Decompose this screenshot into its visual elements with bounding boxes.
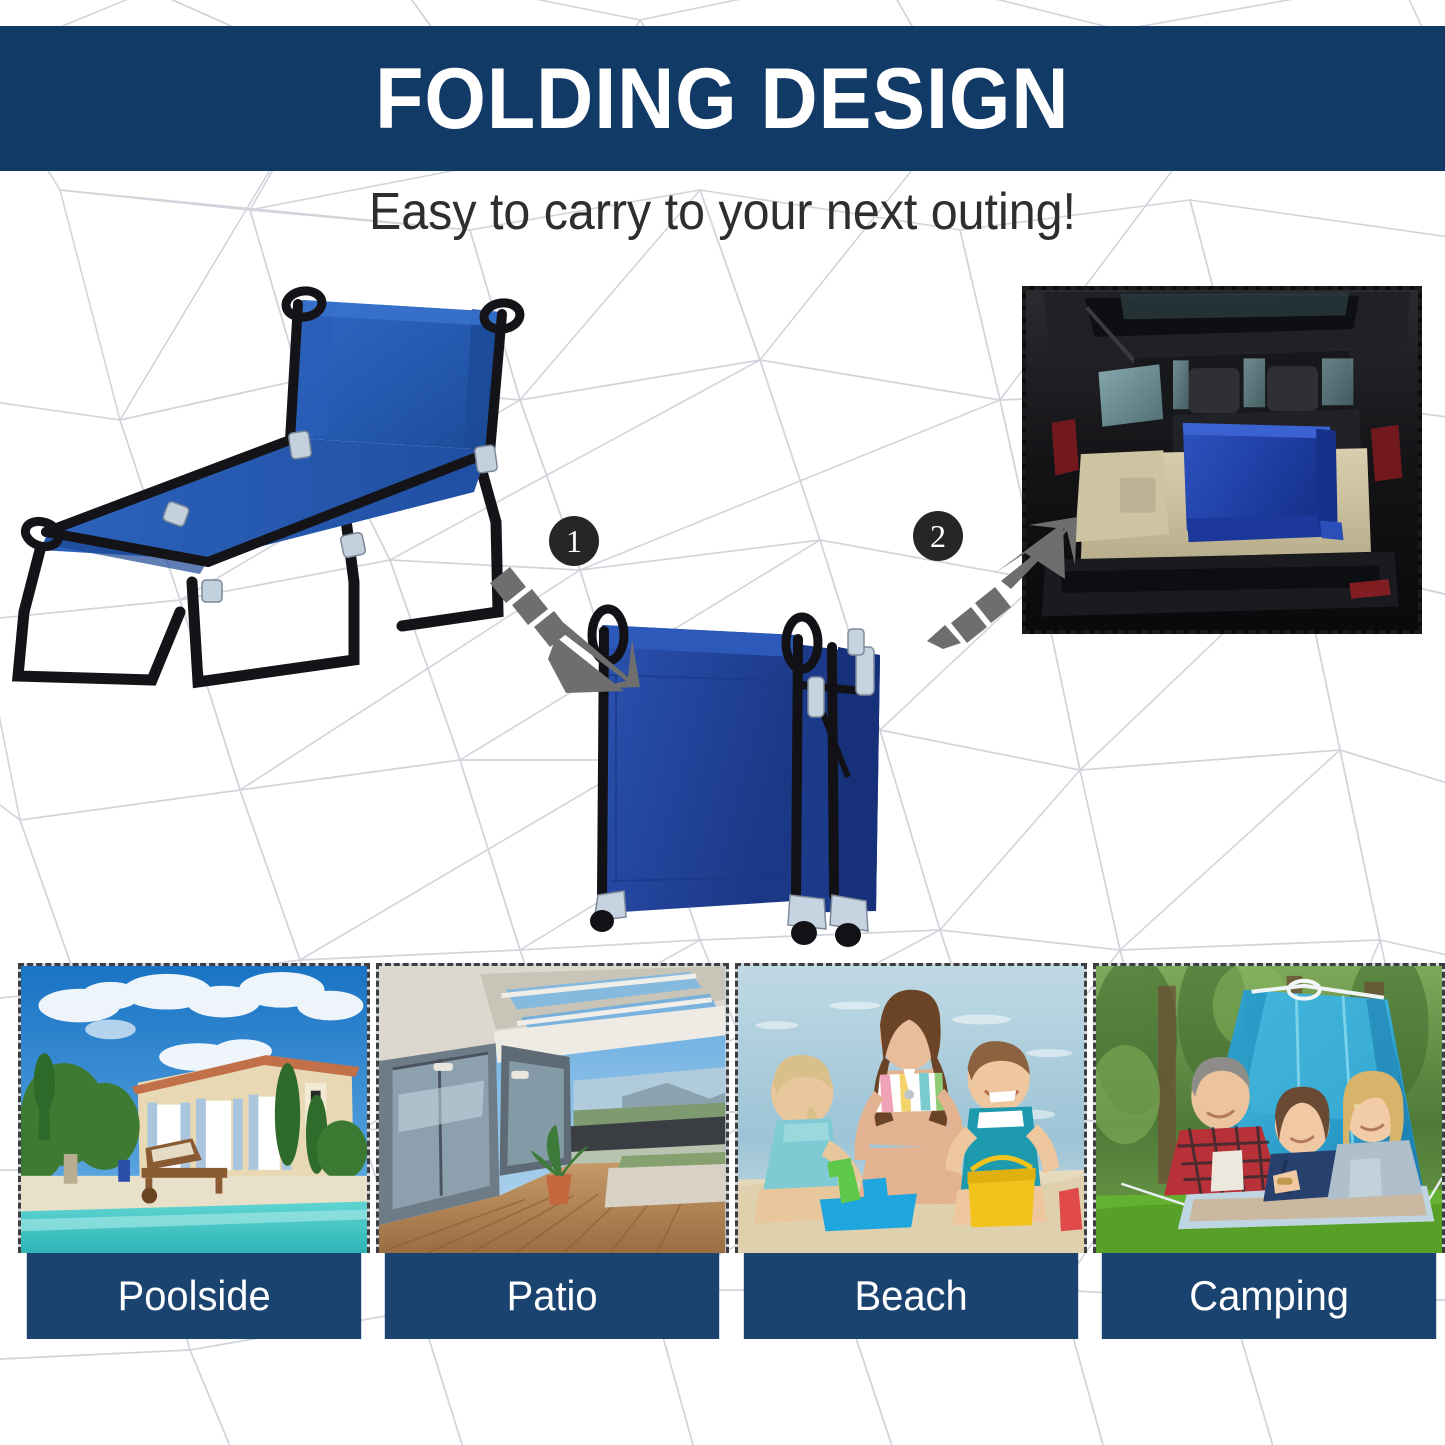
- scene-label-beach: Beach: [743, 1253, 1078, 1339]
- scene-card-poolside[interactable]: Poolside: [18, 963, 370, 1363]
- scene-card-patio[interactable]: Patio: [376, 963, 728, 1363]
- product-image-lounger-open: [2, 282, 542, 692]
- scene-label-camping: Camping: [1102, 1253, 1437, 1339]
- scene-photo-camping: [1093, 963, 1445, 1253]
- scene-label-poolside: Poolside: [27, 1253, 362, 1339]
- scene-photo-patio: [376, 963, 728, 1253]
- subtitle-text: Easy to carry to your next outing!: [51, 182, 1395, 242]
- scene-label-patio: Patio: [385, 1253, 720, 1339]
- step-arrow-1-icon: [486, 565, 646, 695]
- page-title: FOLDING DESIGN: [375, 56, 1069, 142]
- header-banner: FOLDING DESIGN: [0, 26, 1445, 171]
- step-badge-1: 1: [549, 516, 599, 566]
- scene-photo-poolside: [18, 963, 370, 1253]
- scene-photo-beach: [735, 963, 1087, 1253]
- scene-card-beach[interactable]: Beach: [735, 963, 1087, 1363]
- scene-cards-row: Poolside: [0, 963, 1445, 1363]
- scene-card-camping[interactable]: Camping: [1093, 963, 1445, 1363]
- step-arrow-2-icon: [925, 515, 1085, 650]
- infographic-page: FOLDING DESIGN Easy to carry to your nex…: [0, 0, 1445, 1445]
